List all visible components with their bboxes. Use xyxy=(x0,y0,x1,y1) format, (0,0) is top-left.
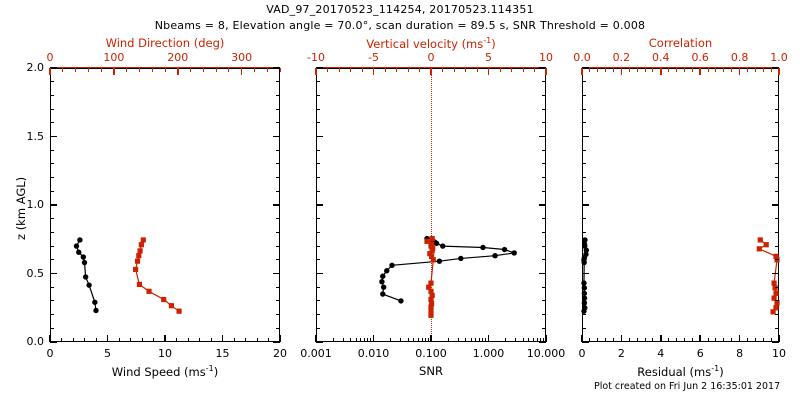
y-minor-tick xyxy=(276,232,280,233)
x-bottom-minor-tick xyxy=(418,338,419,342)
x-top-minor-tick xyxy=(465,68,466,72)
x-bottom-minor-tick xyxy=(629,338,630,342)
x-bottom-major-tick xyxy=(488,335,490,342)
y-minor-tick xyxy=(775,205,779,206)
data-point-marker xyxy=(81,254,86,259)
y-minor-tick xyxy=(542,95,546,96)
y-minor-tick xyxy=(50,95,54,96)
x-bottom-minor-tick xyxy=(676,338,677,342)
x-top-minor-tick xyxy=(534,68,535,72)
y-major-tick xyxy=(582,273,589,275)
x-bottom-major-tick xyxy=(581,335,583,342)
y-minor-tick xyxy=(582,287,586,288)
y-minor-tick xyxy=(276,163,280,164)
y-minor-tick xyxy=(276,109,280,110)
data-point-marker xyxy=(512,250,517,255)
x-bottom-minor-tick xyxy=(370,338,371,342)
y-major-tick xyxy=(273,273,280,275)
data-point-marker xyxy=(135,259,140,264)
data-point-marker xyxy=(77,237,82,242)
y-minor-tick xyxy=(50,163,54,164)
data-point-marker xyxy=(380,274,385,279)
y-minor-tick xyxy=(50,328,54,329)
y-minor-tick xyxy=(50,150,54,151)
x-bottom-minor-tick xyxy=(211,338,212,342)
x-top-axis-title: Vertical velocity (ms-1) xyxy=(316,36,546,51)
panel-wind xyxy=(50,68,280,342)
data-point-marker xyxy=(431,257,436,262)
data-point-marker xyxy=(82,260,87,265)
data-point-marker xyxy=(424,239,429,244)
y-minor-tick xyxy=(50,300,54,301)
x-top-minor-tick xyxy=(339,68,340,72)
y-minor-tick xyxy=(582,150,586,151)
y-minor-tick xyxy=(542,246,546,247)
axis-title-tail: ) xyxy=(491,37,496,51)
y-minor-tick xyxy=(316,81,320,82)
y-minor-tick xyxy=(775,191,779,192)
y-minor-tick xyxy=(775,287,779,288)
x-top-minor-tick xyxy=(731,68,732,72)
x-bottom-minor-tick xyxy=(652,338,653,342)
y-minor-tick xyxy=(582,232,586,233)
y-minor-tick xyxy=(276,218,280,219)
y-minor-tick xyxy=(542,287,546,288)
x-bottom-major-tick xyxy=(164,335,166,342)
y-minor-tick xyxy=(50,122,54,123)
x-top-minor-tick xyxy=(101,68,102,72)
x-bottom-minor-tick xyxy=(723,338,724,342)
x-bottom-minor-tick xyxy=(637,338,638,342)
y-minor-tick xyxy=(316,191,320,192)
x-top-major-tick xyxy=(488,68,490,75)
x-top-major-tick xyxy=(430,68,432,75)
y-minor-tick xyxy=(50,232,54,233)
y-minor-tick xyxy=(775,95,779,96)
x-bottom-minor-tick xyxy=(505,338,506,342)
data-point-marker xyxy=(764,242,769,247)
y-minor-tick xyxy=(542,122,546,123)
y-minor-tick xyxy=(50,246,54,247)
x-top-major-tick xyxy=(177,68,179,75)
y-minor-tick xyxy=(50,218,54,219)
data-point-marker xyxy=(480,245,485,250)
x-bottom-major-tick xyxy=(279,335,281,342)
y-minor-tick xyxy=(50,287,54,288)
data-point-marker xyxy=(389,263,394,268)
y-minor-tick xyxy=(582,191,586,192)
x-bottom-minor-tick xyxy=(61,338,62,342)
x-bottom-minor-tick xyxy=(245,338,246,342)
x-top-minor-tick xyxy=(613,68,614,72)
data-point-marker xyxy=(176,309,181,314)
y-minor-tick xyxy=(775,218,779,219)
x-top-minor-tick xyxy=(254,68,255,72)
page-title: VAD_97_20170523_114254, 20170523.114351 xyxy=(0,3,800,16)
x-top-minor-tick xyxy=(419,68,420,72)
y-minor-tick xyxy=(775,314,779,315)
x-bottom-minor-tick xyxy=(605,338,606,342)
y-minor-tick xyxy=(276,328,280,329)
axis-title-text: Wind Speed (ms xyxy=(112,365,206,379)
x-bottom-minor-tick xyxy=(684,338,685,342)
y-minor-tick xyxy=(276,314,280,315)
x-bottom-tick-label: 10 xyxy=(739,347,800,360)
y-axis-tick-label: 1.0 xyxy=(8,198,44,211)
y-minor-tick xyxy=(542,191,546,192)
x-top-minor-tick xyxy=(708,68,709,72)
x-bottom-major-tick xyxy=(545,335,547,342)
data-point-marker xyxy=(139,242,144,247)
x-top-minor-tick xyxy=(152,68,153,72)
y-minor-tick xyxy=(276,205,280,206)
y-minor-tick xyxy=(316,218,320,219)
data-point-marker xyxy=(581,308,586,313)
data-point-marker xyxy=(758,237,763,242)
x-bottom-minor-tick xyxy=(485,338,486,342)
panel-snr xyxy=(316,68,546,342)
x-top-minor-tick xyxy=(771,68,772,72)
x-top-minor-tick xyxy=(652,68,653,72)
x-bottom-minor-tick xyxy=(482,338,483,342)
x-top-minor-tick xyxy=(385,68,386,72)
x-bottom-major-tick xyxy=(222,335,224,342)
x-bottom-minor-tick xyxy=(533,338,534,342)
x-top-minor-tick xyxy=(454,68,455,72)
x-top-minor-tick xyxy=(327,68,328,72)
x-bottom-minor-tick xyxy=(142,338,143,342)
x-top-minor-tick xyxy=(715,68,716,72)
x-top-minor-tick xyxy=(280,68,281,72)
y-minor-tick xyxy=(582,177,586,178)
data-point-marker xyxy=(76,250,81,255)
data-point-marker xyxy=(384,268,389,273)
x-bottom-axis-title: Residual (ms-1) xyxy=(582,364,779,379)
y-major-tick xyxy=(539,136,546,138)
y-minor-tick xyxy=(316,122,320,123)
data-point-marker xyxy=(381,285,386,290)
x-top-minor-tick xyxy=(228,68,229,72)
x-top-minor-tick xyxy=(362,68,363,72)
x-bottom-minor-tick xyxy=(589,338,590,342)
y-minor-tick xyxy=(542,218,546,219)
data-point-marker xyxy=(398,298,403,303)
data-point-marker xyxy=(581,260,586,265)
y-minor-tick xyxy=(582,314,586,315)
y-minor-tick xyxy=(276,150,280,151)
x-top-major-tick xyxy=(621,68,623,75)
y-major-tick xyxy=(772,273,779,275)
data-point-marker xyxy=(161,297,166,302)
x-bottom-major-tick xyxy=(430,335,432,342)
series-line xyxy=(382,239,514,301)
x-top-minor-tick xyxy=(629,68,630,72)
y-minor-tick xyxy=(775,177,779,178)
x-top-major-tick xyxy=(373,68,375,75)
vad-plot-figure: VAD_97_20170523_114254, 20170523.114351 … xyxy=(0,0,800,400)
y-minor-tick xyxy=(582,328,586,329)
data-point-marker xyxy=(757,246,762,251)
x-bottom-minor-tick xyxy=(408,338,409,342)
x-top-major-tick xyxy=(49,68,51,75)
data-point-marker xyxy=(169,303,174,308)
data-point-marker xyxy=(380,291,385,296)
y-minor-tick xyxy=(582,81,586,82)
y-minor-tick xyxy=(775,150,779,151)
y-major-tick xyxy=(316,341,323,343)
y-minor-tick xyxy=(775,109,779,110)
x-top-minor-tick xyxy=(723,68,724,72)
x-top-minor-tick xyxy=(477,68,478,72)
data-point-marker xyxy=(428,313,433,318)
x-bottom-minor-tick xyxy=(73,338,74,342)
plot-created-footer: Plot created on Fri Jun 2 16:35:01 2017 xyxy=(594,381,780,392)
y-minor-tick xyxy=(316,232,320,233)
x-top-minor-tick xyxy=(645,68,646,72)
axis-title-text: Vertical velocity (ms xyxy=(366,37,483,51)
x-top-minor-tick xyxy=(684,68,685,72)
y-axis-tick-label: 0.5 xyxy=(8,267,44,280)
x-bottom-minor-tick xyxy=(268,338,269,342)
x-bottom-minor-tick xyxy=(119,338,120,342)
x-top-minor-tick xyxy=(763,68,764,72)
y-minor-tick xyxy=(316,177,320,178)
y-major-tick xyxy=(582,341,589,343)
x-bottom-minor-tick xyxy=(458,338,459,342)
x-bottom-minor-tick xyxy=(515,338,516,342)
x-bottom-minor-tick xyxy=(715,338,716,342)
y-minor-tick xyxy=(775,122,779,123)
x-top-minor-tick xyxy=(605,68,606,72)
y-minor-tick xyxy=(775,81,779,82)
axis-title-superscript: -1 xyxy=(711,364,719,373)
x-top-major-tick xyxy=(739,68,741,75)
y-minor-tick xyxy=(316,205,320,206)
y-minor-tick xyxy=(582,218,586,219)
x-bottom-major-tick xyxy=(373,335,375,342)
data-point-marker xyxy=(771,280,776,285)
y-minor-tick xyxy=(582,300,586,301)
y-minor-tick xyxy=(316,163,320,164)
x-bottom-major-tick xyxy=(107,335,109,342)
data-point-marker xyxy=(141,237,146,242)
y-major-tick xyxy=(772,136,779,138)
y-major-tick xyxy=(316,273,323,275)
y-minor-tick xyxy=(775,259,779,260)
x-top-minor-tick xyxy=(216,68,217,72)
y-minor-tick xyxy=(276,177,280,178)
x-bottom-minor-tick xyxy=(448,338,449,342)
y-major-tick xyxy=(50,136,57,138)
x-bottom-minor-tick xyxy=(390,338,391,342)
x-top-minor-tick xyxy=(511,68,512,72)
x-bottom-minor-tick xyxy=(755,338,756,342)
x-top-axis-title: Wind Direction (deg) xyxy=(50,36,280,50)
y-minor-tick xyxy=(316,314,320,315)
series-vertical-velocity xyxy=(424,236,436,318)
x-bottom-minor-tick xyxy=(428,338,429,342)
x-bottom-minor-tick xyxy=(465,338,466,342)
series-residual xyxy=(581,237,589,314)
axis-title-tail: ) xyxy=(719,365,724,379)
x-bottom-minor-tick xyxy=(668,338,669,342)
x-bottom-minor-tick xyxy=(537,338,538,342)
y-minor-tick xyxy=(542,328,546,329)
y-minor-tick xyxy=(775,163,779,164)
data-point-marker xyxy=(458,256,463,261)
y-minor-tick xyxy=(276,122,280,123)
y-minor-tick xyxy=(316,109,320,110)
x-top-minor-tick xyxy=(190,68,191,72)
data-point-marker xyxy=(428,308,433,313)
x-bottom-minor-tick xyxy=(343,338,344,342)
y-major-tick xyxy=(50,273,57,275)
y-minor-tick xyxy=(50,177,54,178)
x-top-major-tick xyxy=(699,68,701,75)
y-minor-tick xyxy=(50,314,54,315)
y-minor-tick xyxy=(276,95,280,96)
x-top-major-tick xyxy=(778,68,780,75)
y-major-tick xyxy=(273,136,280,138)
x-bottom-minor-tick xyxy=(425,338,426,342)
y-major-tick xyxy=(582,67,589,69)
y-minor-tick xyxy=(50,81,54,82)
x-bottom-minor-tick xyxy=(523,338,524,342)
x-bottom-minor-tick xyxy=(153,338,154,342)
panel-residual-plot-area xyxy=(582,68,779,342)
x-bottom-minor-tick xyxy=(422,338,423,342)
x-bottom-minor-tick xyxy=(130,338,131,342)
x-top-minor-tick xyxy=(267,68,268,72)
x-bottom-major-tick xyxy=(699,335,701,342)
x-bottom-minor-tick xyxy=(367,338,368,342)
data-point-marker xyxy=(74,243,79,248)
x-top-minor-tick xyxy=(637,68,638,72)
x-top-tick-label: 300 xyxy=(202,51,282,64)
x-bottom-minor-tick xyxy=(356,338,357,342)
x-bottom-minor-tick xyxy=(763,338,764,342)
y-minor-tick xyxy=(542,300,546,301)
data-point-marker xyxy=(581,280,586,285)
y-minor-tick xyxy=(542,259,546,260)
y-minor-tick xyxy=(316,300,320,301)
x-top-minor-tick xyxy=(408,68,409,72)
x-bottom-major-tick xyxy=(49,335,51,342)
data-point-marker xyxy=(582,291,587,296)
x-bottom-major-tick xyxy=(621,335,623,342)
x-bottom-minor-tick xyxy=(708,338,709,342)
y-major-tick xyxy=(50,67,57,69)
y-major-tick xyxy=(316,136,323,138)
series-wind-speed xyxy=(74,237,99,313)
x-bottom-minor-tick xyxy=(96,338,97,342)
x-bottom-minor-tick xyxy=(540,338,541,342)
y-minor-tick xyxy=(582,95,586,96)
y-minor-tick xyxy=(276,191,280,192)
panel-wind-plot-area xyxy=(50,68,280,342)
y-minor-tick xyxy=(316,259,320,260)
x-bottom-minor-tick xyxy=(543,338,544,342)
axis-title-text: Residual (ms xyxy=(637,365,711,379)
x-bottom-minor-tick xyxy=(350,338,351,342)
y-minor-tick xyxy=(582,122,586,123)
x-top-minor-tick xyxy=(88,68,89,72)
x-top-tick-label: 1.0 xyxy=(739,51,800,64)
x-top-minor-tick xyxy=(589,68,590,72)
x-top-minor-tick xyxy=(668,68,669,72)
axis-title-tail: ) xyxy=(214,365,219,379)
data-point-marker xyxy=(137,282,142,287)
x-top-minor-tick xyxy=(523,68,524,72)
scan-parameters-subtitle: Nbeams = 8, Elevation angle = 70.0°, sca… xyxy=(0,19,800,32)
x-top-minor-tick xyxy=(692,68,693,72)
y-minor-tick xyxy=(276,81,280,82)
x-bottom-minor-tick xyxy=(234,338,235,342)
x-bottom-minor-tick xyxy=(645,338,646,342)
x-bottom-minor-tick xyxy=(364,338,365,342)
x-top-major-tick xyxy=(581,68,583,75)
y-minor-tick xyxy=(542,81,546,82)
x-bottom-minor-tick xyxy=(731,338,732,342)
y-major-tick xyxy=(582,136,589,138)
y-minor-tick xyxy=(775,246,779,247)
series-snr xyxy=(379,236,517,304)
y-minor-tick xyxy=(775,232,779,233)
x-bottom-minor-tick xyxy=(199,338,200,342)
x-top-minor-tick xyxy=(500,68,501,72)
data-point-marker xyxy=(434,241,439,246)
x-top-minor-tick xyxy=(597,68,598,72)
y-minor-tick xyxy=(276,259,280,260)
y-minor-tick xyxy=(775,300,779,301)
x-top-minor-tick xyxy=(676,68,677,72)
y-minor-tick xyxy=(316,328,320,329)
x-top-major-tick xyxy=(113,68,115,75)
x-top-minor-tick xyxy=(62,68,63,72)
y-minor-tick xyxy=(50,191,54,192)
x-bottom-major-tick xyxy=(315,335,317,342)
panel-snr-plot-area xyxy=(316,68,546,342)
x-top-minor-tick xyxy=(139,68,140,72)
x-top-minor-tick xyxy=(442,68,443,72)
y-minor-tick xyxy=(582,163,586,164)
data-point-marker xyxy=(93,308,98,313)
data-point-marker xyxy=(86,282,91,287)
x-top-major-tick xyxy=(545,68,547,75)
x-top-minor-tick xyxy=(203,68,204,72)
x-bottom-minor-tick xyxy=(475,338,476,342)
y-minor-tick xyxy=(582,205,586,206)
x-bottom-minor-tick xyxy=(257,338,258,342)
x-bottom-major-tick xyxy=(739,335,741,342)
x-bottom-minor-tick xyxy=(471,338,472,342)
x-top-major-tick xyxy=(660,68,662,75)
y-major-tick xyxy=(50,341,57,343)
x-bottom-minor-tick xyxy=(597,338,598,342)
x-bottom-minor-tick xyxy=(176,338,177,342)
y-minor-tick xyxy=(50,109,54,110)
data-point-marker xyxy=(137,248,142,253)
x-top-minor-tick xyxy=(747,68,748,72)
x-top-minor-tick xyxy=(75,68,76,72)
x-bottom-minor-tick xyxy=(360,338,361,342)
data-point-marker xyxy=(502,247,507,252)
x-bottom-minor-tick xyxy=(747,338,748,342)
x-bottom-major-tick xyxy=(660,335,662,342)
y-major-tick xyxy=(316,67,323,69)
series-wind-direction xyxy=(133,237,182,313)
y-minor-tick xyxy=(542,177,546,178)
